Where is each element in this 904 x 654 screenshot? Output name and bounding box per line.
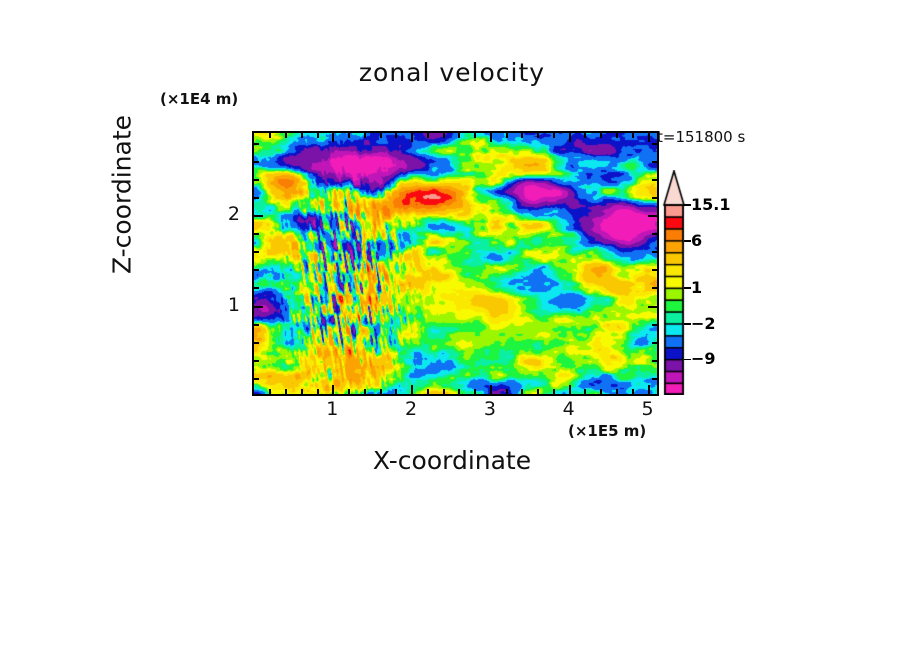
axis-tick (458, 389, 460, 394)
axis-tick (584, 133, 586, 138)
axis-tick (648, 133, 650, 142)
axis-tick (254, 161, 259, 163)
axis-tick (443, 133, 445, 138)
axis-tick (395, 133, 397, 138)
x-tick-label-3: 3 (470, 398, 510, 420)
axis-tick (652, 143, 657, 145)
axis-tick (254, 179, 259, 181)
axis-tick (364, 133, 366, 138)
axis-tick (616, 389, 618, 394)
timestamp-annotation: t=151800 s (657, 128, 745, 146)
axis-tick (652, 161, 657, 163)
colorbar-label--2: −2 (691, 314, 716, 333)
axis-tick (648, 306, 657, 308)
contour-plot-frame (252, 131, 659, 396)
axis-tick (254, 215, 263, 217)
axis-tick (332, 385, 334, 394)
axis-tick (443, 389, 445, 394)
colorbar-label-1: 1 (691, 278, 702, 297)
axis-tick (600, 389, 602, 394)
axis-tick (652, 378, 657, 380)
axis-tick (364, 389, 366, 394)
axis-tick (648, 215, 657, 217)
colorbar-tick (684, 323, 691, 325)
axis-tick (285, 389, 287, 394)
axis-tick (616, 133, 618, 138)
axis-tick (348, 133, 350, 138)
colorbar-label-6: 6 (691, 231, 702, 250)
axis-tick (254, 143, 259, 145)
axis-tick (521, 133, 523, 138)
axis-tick (458, 133, 460, 138)
axis-tick (254, 342, 259, 344)
axis-tick (332, 133, 334, 142)
y-tick-label-2: 2 (200, 203, 240, 225)
axis-tick (395, 389, 397, 394)
colorbar-label--9: −9 (691, 349, 716, 368)
x-tick-label-5: 5 (628, 398, 668, 420)
axis-tick (427, 389, 429, 394)
velocity-field-heatmap (254, 133, 657, 394)
axis-tick (652, 324, 657, 326)
x-tick-label-1: 1 (312, 398, 352, 420)
axis-tick (348, 389, 350, 394)
axis-tick (301, 133, 303, 138)
colorbar-tick (684, 204, 691, 206)
axis-tick (569, 133, 571, 142)
y-tick-label-1: 1 (200, 294, 240, 316)
axis-tick (553, 133, 555, 138)
axis-tick (474, 389, 476, 394)
axis-tick (652, 233, 657, 235)
axis-tick (652, 360, 657, 362)
axis-tick (490, 133, 492, 142)
axis-tick (317, 389, 319, 394)
axis-tick (490, 385, 492, 394)
axis-tick (285, 133, 287, 138)
axis-tick (652, 287, 657, 289)
axis-tick (553, 389, 555, 394)
axis-tick (254, 306, 263, 308)
axis-tick (254, 251, 259, 253)
axis-tick (474, 133, 476, 138)
axis-tick (269, 133, 271, 138)
axis-tick (411, 385, 413, 394)
axis-tick (584, 389, 586, 394)
x-axis-label: X-coordinate (0, 446, 904, 475)
axis-tick (652, 197, 657, 199)
axis-tick (254, 197, 259, 199)
colorbar-tick (684, 359, 691, 361)
axis-tick (537, 133, 539, 138)
axis-tick (411, 133, 413, 142)
axis-tick (652, 342, 657, 344)
axis-tick (506, 133, 508, 138)
colorbar-tick (684, 240, 691, 242)
axis-tick (254, 287, 259, 289)
axis-tick (600, 133, 602, 138)
axis-tick (301, 389, 303, 394)
axis-tick (254, 324, 259, 326)
axis-tick (254, 233, 259, 235)
axis-tick (317, 133, 319, 138)
axis-tick (648, 385, 650, 394)
x-tick-label-4: 4 (549, 398, 589, 420)
axis-tick (254, 269, 259, 271)
axis-tick (652, 251, 657, 253)
y-axis-label: Z-coordinate (108, 65, 137, 325)
axis-tick (652, 179, 657, 181)
axis-tick (632, 389, 634, 394)
colorbar-label-15.1: 15.1 (691, 195, 730, 214)
axis-tick (427, 133, 429, 138)
axis-tick (652, 269, 657, 271)
axis-tick (521, 389, 523, 394)
axis-tick (254, 378, 259, 380)
axis-tick (632, 133, 634, 138)
axis-tick (537, 389, 539, 394)
x-axis-units: (×1E5 m) (568, 422, 646, 440)
axis-tick (569, 385, 571, 394)
axis-tick (380, 133, 382, 138)
axis-tick (506, 389, 508, 394)
axis-tick (380, 389, 382, 394)
colorbar-tick (684, 287, 691, 289)
x-tick-label-2: 2 (391, 398, 431, 420)
z-axis-units: (×1E4 m) (160, 90, 238, 108)
axis-tick (254, 360, 259, 362)
axis-tick (269, 389, 271, 394)
